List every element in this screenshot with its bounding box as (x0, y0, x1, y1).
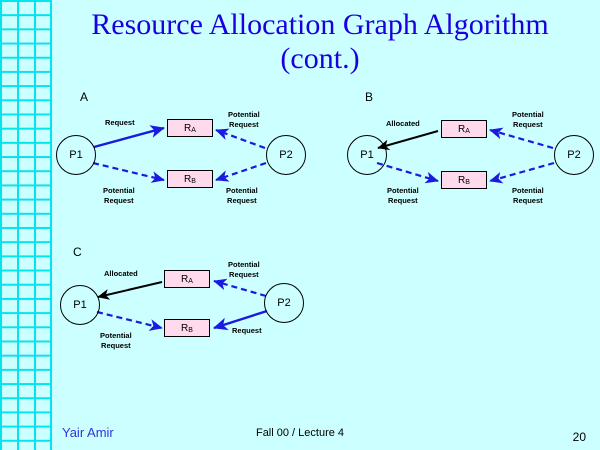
diagram-a-label-potential-request-p2-rb: Potential Request (226, 186, 258, 205)
diagram-b-resource-rb-sub: B (465, 179, 470, 186)
diagram-a-resource-rb-label: R (184, 174, 191, 185)
edge-c-p1-to-rb (97, 312, 162, 328)
diagram-b-letter: B (365, 90, 373, 104)
footer-lecture-info: Fall 00 / Lecture 4 (0, 427, 600, 439)
edge-label-line2: Request (388, 196, 418, 205)
diagram-a-node-p1[interactable]: P1 (56, 135, 96, 175)
edge-label-line2: Request (513, 120, 543, 129)
diagram-a-resource-ra[interactable]: RA (167, 119, 213, 137)
diagram-b-resource-ra-sub: A (465, 128, 470, 135)
diagram-c-resource-ra[interactable]: RA (164, 270, 210, 288)
decorative-grid-strip (0, 0, 52, 450)
edge-label-line1: Potential (387, 186, 419, 195)
diagram-a-label-potential-request-p2-ra: Potential Request (228, 110, 260, 129)
diagram-b-node-p2[interactable]: P2 (554, 135, 594, 175)
diagram-a-node-p1-label: P1 (69, 149, 82, 161)
diagram-c-resource-ra-label: R (181, 274, 188, 285)
edge-label-line2: Request (227, 196, 257, 205)
diagram-c-label-potential-request-p1-rb: Potential Request (100, 331, 132, 350)
diagram-a-resource-ra-label: R (184, 123, 191, 134)
edge-b-p1-to-rb (377, 163, 438, 181)
edge-label-line2: Request (229, 270, 259, 279)
diagram-b-node-p1-label: P1 (360, 149, 373, 161)
diagram-b-label-potential-request-p1-rb: Potential Request (387, 186, 419, 205)
edge-b-p2-to-rb (490, 163, 554, 181)
diagram-a-resource-ra-sub: A (191, 127, 196, 134)
edge-a-p2-to-ra (216, 130, 265, 148)
edge-label-line1: Potential (228, 260, 260, 269)
diagram-c-resource-rb[interactable]: RB (164, 319, 210, 337)
edge-label-line2: Request (101, 341, 131, 350)
diagram-a-node-p2-label: P2 (279, 149, 292, 161)
diagram-b-label-allocated-ra-p1: Allocated (386, 119, 420, 129)
diagram-b-node-p1[interactable]: P1 (347, 135, 387, 175)
diagram-a-label-potential-request-p1-rb: Potential Request (103, 186, 135, 205)
diagram-c-resource-ra-sub: A (188, 278, 193, 285)
diagram-b-resource-ra[interactable]: RA (441, 120, 487, 138)
diagram-a-letter: A (80, 90, 88, 104)
diagram-b-label-potential-request-p2-rb: Potential Request (512, 186, 544, 205)
edge-label-line1: Potential (103, 186, 135, 195)
edge-label-line1: Potential (512, 110, 544, 119)
edge-a-p1-to-ra (94, 128, 164, 147)
edge-label-line1: Allocated (386, 119, 420, 128)
footer-page-number: 20 (573, 430, 586, 444)
edge-a-p2-to-rb (216, 163, 266, 180)
diagram-b-label-potential-request-p2-ra: Potential Request (512, 110, 544, 129)
diagram-b-node-p2-label: P2 (567, 149, 580, 161)
page-title: Resource Allocation Graph Algorithm (con… (60, 8, 580, 76)
diagram-b-resource-rb-label: R (458, 175, 465, 186)
diagram-c-label-request-p2-rb: Request (232, 326, 262, 336)
diagram-a-resource-rb-sub: B (191, 178, 196, 185)
edge-label-line2: Request (104, 196, 134, 205)
edge-label-line1: Potential (226, 186, 258, 195)
page-title-line2: (cont.) (60, 42, 580, 76)
diagram-c-label-allocated-ra-p1: Allocated (104, 269, 138, 279)
edge-label-line1: Request (232, 326, 262, 335)
edge-label-line2: Request (513, 196, 543, 205)
edge-label-line1: Potential (512, 186, 544, 195)
diagram-c-resource-rb-label: R (181, 323, 188, 334)
edge-c-ra-to-p1 (98, 282, 162, 297)
edge-label-line1: Request (105, 118, 135, 127)
slide-canvas: Resource Allocation Graph Algorithm (con… (0, 0, 600, 450)
diagram-b-resource-ra-label: R (458, 124, 465, 135)
diagram-c-node-p2-label: P2 (277, 297, 290, 309)
edge-label-line2: Request (229, 120, 259, 129)
diagram-c-letter: C (73, 245, 82, 259)
diagram-a-label-request-p1-ra: Request (105, 118, 135, 128)
diagram-c-node-p1-label: P1 (73, 299, 86, 311)
edge-c-p2-to-ra (214, 281, 266, 296)
edge-b-p2-to-ra (490, 130, 553, 148)
diagram-a-node-p2[interactable]: P2 (266, 135, 306, 175)
edge-label-line1: Allocated (104, 269, 138, 278)
diagram-b-resource-rb[interactable]: RB (441, 171, 487, 189)
edge-label-line1: Potential (100, 331, 132, 340)
diagram-c-resource-rb-sub: B (188, 327, 193, 334)
diagram-c-label-potential-request-p2-ra: Potential Request (228, 260, 260, 279)
diagram-c-node-p2[interactable]: P2 (264, 283, 304, 323)
diagram-c-node-p1[interactable]: P1 (60, 285, 100, 325)
edge-a-p1-to-rb (93, 163, 164, 180)
diagram-a-resource-rb[interactable]: RB (167, 170, 213, 188)
edge-b-ra-to-p1 (378, 131, 438, 148)
edge-label-line1: Potential (228, 110, 260, 119)
page-title-line1: Resource Allocation Graph Algorithm (91, 8, 548, 41)
